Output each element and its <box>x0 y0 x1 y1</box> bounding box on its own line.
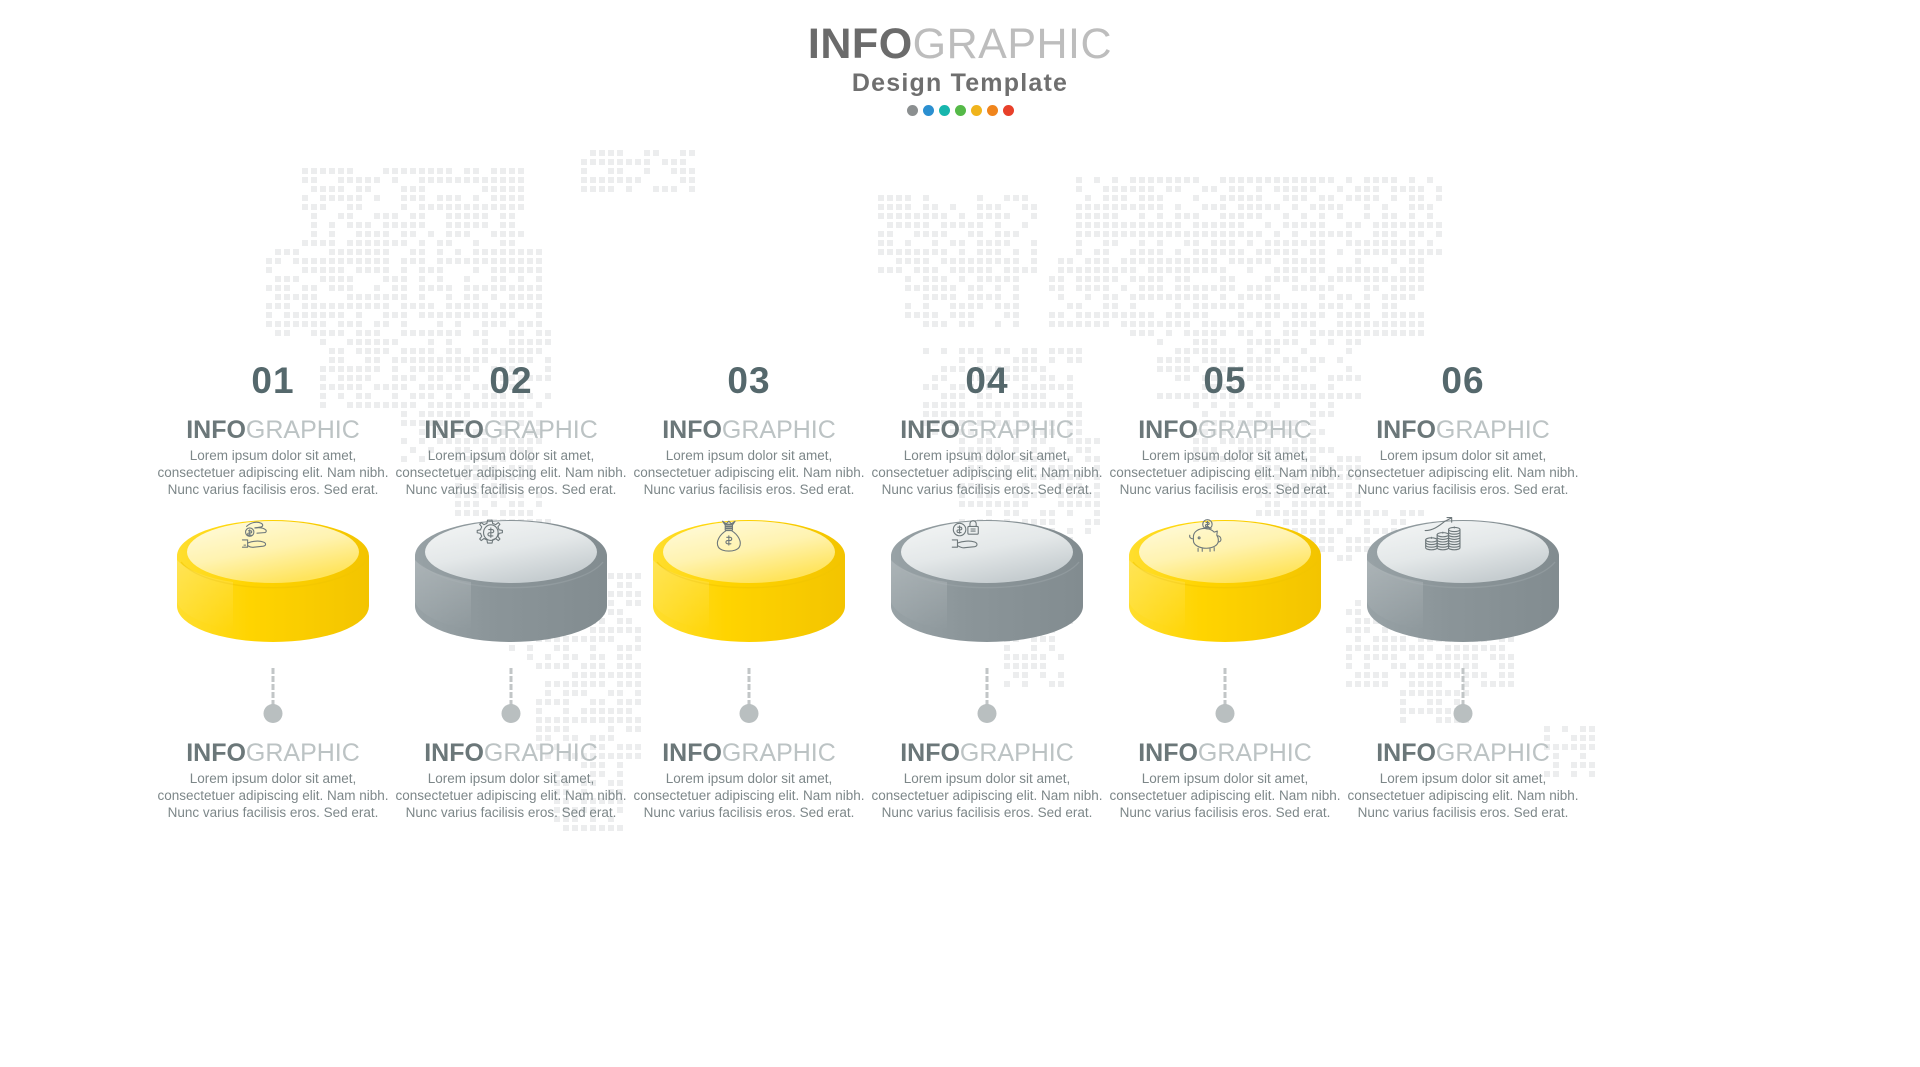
step-connector <box>842 668 1132 728</box>
header-dot-6 <box>987 105 998 116</box>
step-connector <box>1318 668 1608 728</box>
header-dot-7 <box>1003 105 1014 116</box>
connector-dashed-line <box>510 668 513 706</box>
connector-dashed-line <box>1462 668 1465 706</box>
steps-container: 01INFOGRAPHICLorem ipsum dolor sit amet,… <box>0 0 1920 1067</box>
step-bottom-text-title-bold: INFO <box>186 739 246 767</box>
step-bottom-text-title-bold: INFO <box>900 739 960 767</box>
connector-dashed-line <box>272 668 275 706</box>
step-connector <box>128 668 418 728</box>
header: INFOGRAPHIC Design Template <box>0 22 1920 116</box>
step-connector <box>1080 668 1370 728</box>
step-top-text-title-bold: INFO <box>424 416 484 444</box>
step-bottom-text-title-light: GRAPHIC <box>246 739 360 767</box>
step-connector <box>604 668 894 728</box>
step-top-text-title-light: GRAPHIC <box>1436 416 1550 444</box>
step-bottom-text-title-light: GRAPHIC <box>960 739 1074 767</box>
step-top-text-title-bold: INFO <box>1376 416 1436 444</box>
step-bottom-text-title-light: GRAPHIC <box>1198 739 1312 767</box>
step-top-text-title-light: GRAPHIC <box>960 416 1074 444</box>
step-top-text-title-bold: INFO <box>186 416 246 444</box>
connector-dashed-line <box>748 668 751 706</box>
header-subtitle: Design Template <box>0 69 1920 98</box>
connector-dashed-line <box>986 668 989 706</box>
step-bottom-text-body: Lorem ipsum dolor sit amet, consectetuer… <box>1318 770 1608 821</box>
step-connector <box>366 668 656 728</box>
step-bottom-text-title-light: GRAPHIC <box>1436 739 1550 767</box>
connector-dot <box>978 704 997 723</box>
header-title-bold: INFO <box>808 20 913 68</box>
step-bottom-text-title-bold: INFO <box>1138 739 1198 767</box>
header-title: INFOGRAPHIC <box>0 22 1920 67</box>
step-top-text: INFOGRAPHICLorem ipsum dolor sit amet, c… <box>1318 417 1608 498</box>
connector-dot <box>1216 704 1235 723</box>
step-number: 06 <box>1318 360 1608 402</box>
step-top-text-title-bold: INFO <box>1138 416 1198 444</box>
step-disc-06[interactable] <box>1318 510 1608 670</box>
header-dot-3 <box>939 105 950 116</box>
step-top-text-title: INFOGRAPHIC <box>1318 417 1608 443</box>
header-dot-1 <box>907 105 918 116</box>
step-top-text-title-bold: INFO <box>662 416 722 444</box>
step-bottom-text-title: INFOGRAPHIC <box>1318 740 1608 766</box>
step-top-text-title-light: GRAPHIC <box>484 416 598 444</box>
step-bottom-text-title-light: GRAPHIC <box>722 739 836 767</box>
connector-dot <box>740 704 759 723</box>
infographic-canvas: INFOGRAPHIC Design Template 01INFOGRAPHI… <box>0 0 1920 1067</box>
step-bottom-text: INFOGRAPHICLorem ipsum dolor sit amet, c… <box>1318 740 1608 821</box>
connector-dashed-line <box>1224 668 1227 706</box>
header-dot-4 <box>955 105 966 116</box>
step-bottom-text-title-bold: INFO <box>662 739 722 767</box>
step-bottom-text-title-bold: INFO <box>1376 739 1436 767</box>
header-dot-2 <box>923 105 934 116</box>
connector-dot <box>264 704 283 723</box>
step-top-text-title-bold: INFO <box>900 416 960 444</box>
step-top-text-title-light: GRAPHIC <box>722 416 836 444</box>
step-top-text-title-light: GRAPHIC <box>1198 416 1312 444</box>
header-dot-5 <box>971 105 982 116</box>
connector-dot <box>502 704 521 723</box>
step-top-text-body: Lorem ipsum dolor sit amet, consectetuer… <box>1318 447 1608 498</box>
header-title-light: GRAPHIC <box>913 20 1112 68</box>
step-top-text-title-light: GRAPHIC <box>246 416 360 444</box>
step-bottom-text-title-light: GRAPHIC <box>484 739 598 767</box>
header-color-dots <box>0 105 1920 116</box>
connector-dot <box>1454 704 1473 723</box>
step-bottom-text-title-bold: INFO <box>424 739 484 767</box>
